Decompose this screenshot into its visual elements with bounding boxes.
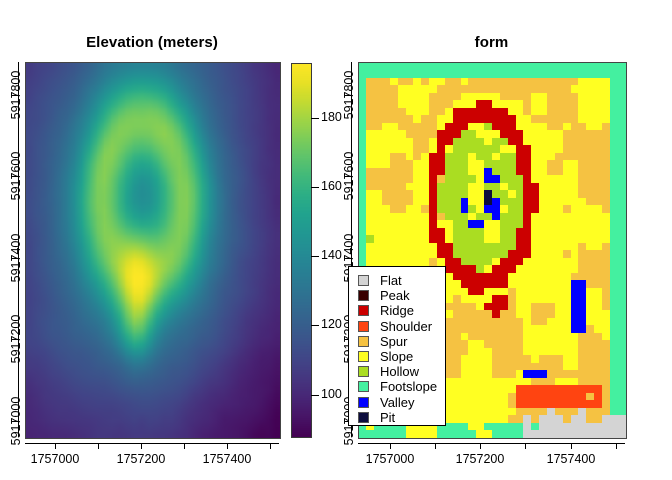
- legend-item[interactable]: Pit: [349, 410, 395, 425]
- legend-swatch-icon: [358, 351, 369, 362]
- legend-item[interactable]: Footslope: [349, 379, 437, 394]
- colorbar-tick-label: 140: [321, 248, 342, 262]
- y-tick-label: 5917600: [9, 143, 23, 209]
- colorbar-tick: [311, 118, 319, 119]
- x-tick-minor: [616, 443, 617, 449]
- legend-swatch-icon: [358, 336, 369, 347]
- y-tick-label: 5917200: [9, 306, 23, 372]
- legend-swatch-icon: [358, 412, 369, 423]
- legend-item[interactable]: Spur: [349, 334, 407, 349]
- colorbar-tick: [311, 256, 319, 257]
- colorbar-tick-label: 120: [321, 317, 342, 331]
- legend-item[interactable]: Slope: [349, 349, 413, 364]
- colorbar-tick: [311, 395, 319, 396]
- legend-item[interactable]: Flat: [349, 273, 402, 288]
- x-tick: [571, 443, 572, 449]
- colorbar-tick-label: 180: [321, 110, 342, 124]
- x-tick-minor: [184, 443, 185, 449]
- x-tick: [141, 443, 142, 449]
- x-axis-line: [25, 443, 279, 444]
- y-tick-label: 5917000: [9, 388, 23, 454]
- legend-label: Spur: [380, 335, 407, 348]
- x-tick-label: 1757000: [360, 452, 420, 466]
- x-tick: [55, 443, 56, 449]
- x-tick-minor: [525, 443, 526, 449]
- x-tick-label: 1757200: [111, 452, 171, 466]
- x-tick: [227, 443, 228, 449]
- colorbar-tick: [311, 187, 319, 188]
- legend-swatch-icon: [358, 275, 369, 286]
- legend-item[interactable]: Peak: [349, 288, 410, 303]
- x-tick-label: 1757400: [197, 452, 257, 466]
- legend-swatch-icon: [358, 397, 369, 408]
- legend-label: Footslope: [380, 380, 437, 393]
- colorbar-tick: [311, 325, 319, 326]
- legend-item[interactable]: Ridge: [349, 303, 414, 318]
- elevation-raster: [25, 62, 281, 439]
- legend-swatch-icon: [358, 321, 369, 332]
- legend-label: Ridge: [380, 304, 414, 317]
- x-tick-minor: [270, 443, 271, 449]
- legend-swatch-icon: [358, 381, 369, 392]
- x-tick-label: 1757200: [450, 452, 510, 466]
- x-tick: [390, 443, 391, 449]
- colorbar-tick-label: 160: [321, 179, 342, 193]
- elevation-title: Elevation (meters): [25, 34, 279, 51]
- legend-label: Peak: [380, 289, 410, 302]
- legend-item[interactable]: Valley: [349, 395, 414, 410]
- y-tick-label: 5917400: [9, 225, 23, 291]
- legend-label: Flat: [380, 274, 402, 287]
- x-axis-line: [358, 443, 625, 444]
- colorbar-tick-label: 100: [321, 387, 342, 401]
- y-tick-label: 5917600: [342, 143, 356, 209]
- legend-label: Hollow: [380, 365, 419, 378]
- elevation-colorbar: [291, 63, 312, 438]
- x-tick-minor: [435, 443, 436, 449]
- form-title: form: [358, 34, 625, 51]
- legend-swatch-icon: [358, 290, 369, 301]
- y-tick-label: 5917800: [9, 62, 23, 128]
- x-tick-label: 1757000: [25, 452, 85, 466]
- form-legend: FlatPeakRidgeShoulderSpurSlopeHollowFoot…: [348, 266, 446, 426]
- legend-label: Shoulder: [380, 320, 432, 333]
- legend-label: Pit: [380, 411, 395, 424]
- legend-label: Valley: [380, 396, 414, 409]
- legend-item[interactable]: Hollow: [349, 364, 419, 379]
- legend-label: Slope: [380, 350, 413, 363]
- legend-swatch-icon: [358, 366, 369, 377]
- x-tick: [480, 443, 481, 449]
- legend-swatch-icon: [358, 305, 369, 316]
- y-tick-label: 5917800: [342, 62, 356, 128]
- x-tick-minor: [98, 443, 99, 449]
- x-tick-label: 1757400: [541, 452, 601, 466]
- legend-item[interactable]: Shoulder: [349, 319, 432, 334]
